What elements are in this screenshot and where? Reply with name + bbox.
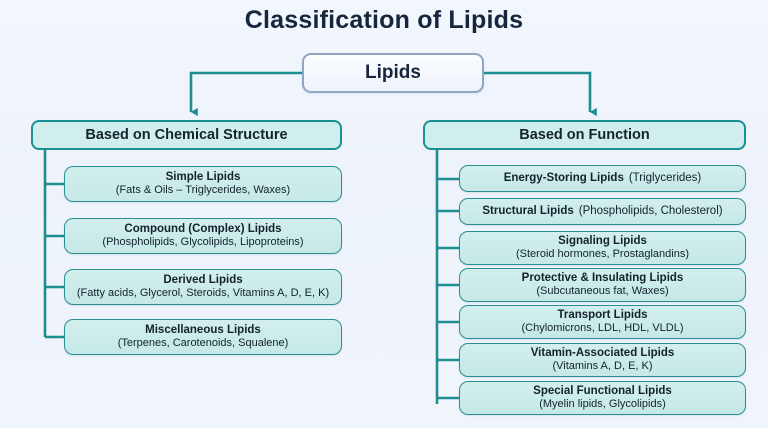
connector-root-to-left-branch <box>191 73 302 112</box>
root-node-label: Lipids <box>365 62 421 84</box>
leaf-detail: (Myelin lipids, Glycolipids) <box>539 398 666 411</box>
root-node-lipids[interactable]: Lipids <box>302 53 484 93</box>
leaf-detail: (Vitamins A, D, E, K) <box>552 360 652 373</box>
branch-header-label: Based on Function <box>519 127 650 143</box>
leaf-detail: (Subcutaneous fat, Waxes) <box>536 285 668 298</box>
branch-header-label: Based on Chemical Structure <box>85 127 287 143</box>
branch-header-function[interactable]: Based on Function <box>423 120 746 150</box>
leaf-title: Miscellaneous Lipids <box>145 324 261 338</box>
leaf-protective-insulating-lipids[interactable]: Protective & Insulating Lipids (Subcutan… <box>459 268 746 302</box>
leaf-structural-lipids[interactable]: Structural Lipids (Phospholipids, Choles… <box>459 198 746 225</box>
connector-root-to-right-branch <box>484 73 590 112</box>
leaf-simple-lipids[interactable]: Simple Lipids (Fats & Oils – Triglycerid… <box>64 166 342 202</box>
leaf-special-functional-lipids[interactable]: Special Functional Lipids (Myelin lipids… <box>459 381 746 415</box>
leaf-derived-lipids[interactable]: Derived Lipids (Fatty acids, Glycerol, S… <box>64 269 342 305</box>
leaf-title: Structural Lipids <box>482 205 573 219</box>
leaf-title: Compound (Complex) Lipids <box>124 223 281 237</box>
leaf-detail: (Fatty acids, Glycerol, Steroids, Vitami… <box>77 287 329 300</box>
leaf-title: Transport Lipids <box>557 309 647 323</box>
leaf-detail: (Steroid hormones, Prostaglandins) <box>516 248 689 261</box>
leaf-detail: (Phospholipids, Cholesterol) <box>579 205 723 219</box>
leaf-signaling-lipids[interactable]: Signaling Lipids (Steroid hormones, Pros… <box>459 231 746 265</box>
leaf-title: Vitamin-Associated Lipids <box>531 347 675 361</box>
leaf-title: Protective & Insulating Lipids <box>522 272 684 286</box>
leaf-title: Derived Lipids <box>163 274 242 288</box>
leaf-detail: (Chylomicrons, LDL, HDL, VLDL) <box>522 322 684 335</box>
leaf-detail: (Phospholipids, Glycolipids, Lipoprotein… <box>102 236 303 249</box>
lipid-classification-diagram: Classification of Lipids <box>0 0 768 428</box>
leaf-transport-lipids[interactable]: Transport Lipids (Chylomicrons, LDL, HDL… <box>459 305 746 339</box>
leaf-detail: (Fats & Oils – Triglycerides, Waxes) <box>116 184 290 197</box>
leaf-detail: (Terpenes, Carotenoids, Squalene) <box>118 337 289 350</box>
branch-header-chemical-structure[interactable]: Based on Chemical Structure <box>31 120 342 150</box>
leaf-miscellaneous-lipids[interactable]: Miscellaneous Lipids (Terpenes, Caroteno… <box>64 319 342 355</box>
leaf-energy-storing-lipids[interactable]: Energy-Storing Lipids (Triglycerides) <box>459 165 746 192</box>
leaf-title: Signaling Lipids <box>558 235 647 249</box>
leaf-title: Energy-Storing Lipids <box>504 172 624 186</box>
leaf-vitamin-associated-lipids[interactable]: Vitamin-Associated Lipids (Vitamins A, D… <box>459 343 746 377</box>
leaf-compound-lipids[interactable]: Compound (Complex) Lipids (Phospholipids… <box>64 218 342 254</box>
leaf-detail: (Triglycerides) <box>629 172 701 186</box>
leaf-title: Simple Lipids <box>166 171 241 185</box>
leaf-title: Special Functional Lipids <box>533 385 672 399</box>
